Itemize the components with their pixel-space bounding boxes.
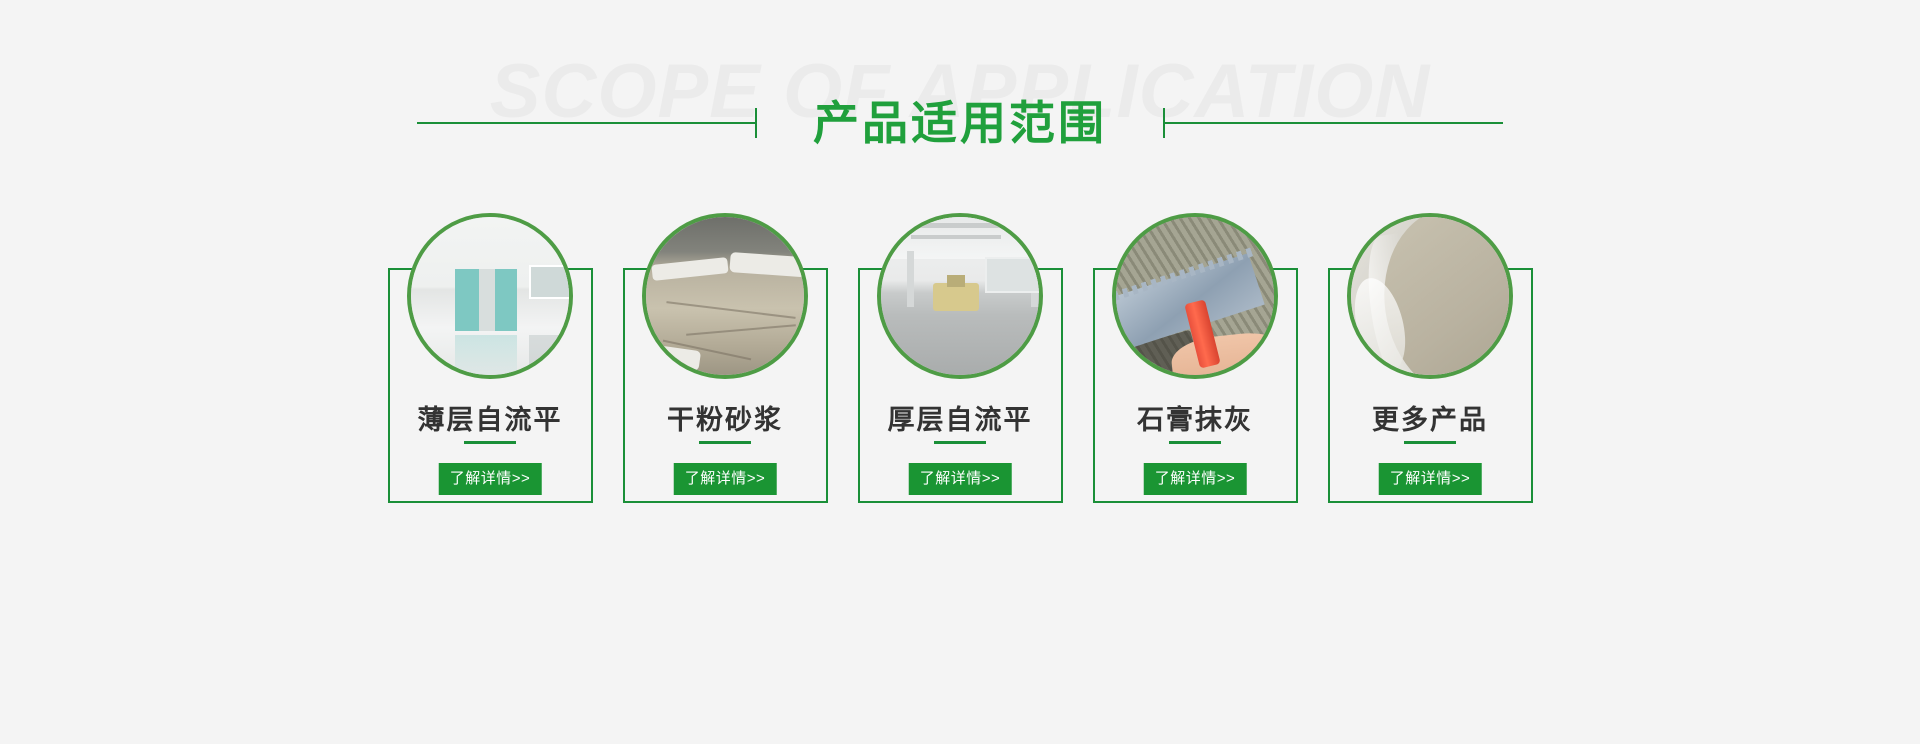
product-card[interactable]: 干粉砂浆 了解详情>> <box>623 213 828 503</box>
card-photo <box>642 213 808 379</box>
product-card-list: 薄层自流平 了解详情>> 干粉砂浆 了解详情>> <box>0 213 1920 503</box>
learn-more-button[interactable]: 了解详情>> <box>439 463 542 495</box>
product-card[interactable]: 石膏抹灰 了解详情>> <box>1093 213 1298 503</box>
page-title: 产品适用范围 <box>757 100 1163 146</box>
header-rule-right <box>1163 122 1503 124</box>
gypsum-plaster-trowel-photo <box>1116 217 1274 375</box>
card-underline <box>464 441 516 444</box>
card-photo <box>1347 213 1513 379</box>
card-title: 厚层自流平 <box>858 398 1063 437</box>
epoxy-self-leveling-floor-photo <box>411 217 569 375</box>
section-header: SCOPE OF APPLICATION 产品适用范围 <box>0 48 1920 178</box>
product-card[interactable]: 厚层自流平 了解详情>> <box>858 213 1063 503</box>
card-title: 更多产品 <box>1328 398 1533 437</box>
card-photo <box>877 213 1043 379</box>
header-rule-left <box>417 122 757 124</box>
card-underline <box>1404 441 1456 444</box>
thick-self-leveling-workshop-photo <box>881 217 1039 375</box>
learn-more-button[interactable]: 了解详情>> <box>1379 463 1482 495</box>
card-title: 薄层自流平 <box>388 398 593 437</box>
card-underline <box>699 441 751 444</box>
card-photo <box>1112 213 1278 379</box>
dry-powder-mortar-photo <box>646 217 804 375</box>
title-row: 产品适用范围 <box>0 100 1920 146</box>
product-card[interactable]: 更多产品 了解详情>> <box>1328 213 1533 503</box>
header-tick-left-icon <box>755 108 757 138</box>
card-photo <box>407 213 573 379</box>
card-underline <box>934 441 986 444</box>
card-title: 石膏抹灰 <box>1093 398 1298 437</box>
learn-more-button[interactable]: 了解详情>> <box>1144 463 1247 495</box>
learn-more-button[interactable]: 了解详情>> <box>674 463 777 495</box>
product-card[interactable]: 薄层自流平 了解详情>> <box>388 213 593 503</box>
scope-of-application-section: SCOPE OF APPLICATION 产品适用范围 薄层自流平 <box>0 0 1920 744</box>
more-products-gypsum-disc-photo <box>1351 217 1509 375</box>
card-title: 干粉砂浆 <box>623 398 828 437</box>
card-underline <box>1169 441 1221 444</box>
learn-more-button[interactable]: 了解详情>> <box>909 463 1012 495</box>
header-tick-right-icon <box>1163 108 1165 138</box>
